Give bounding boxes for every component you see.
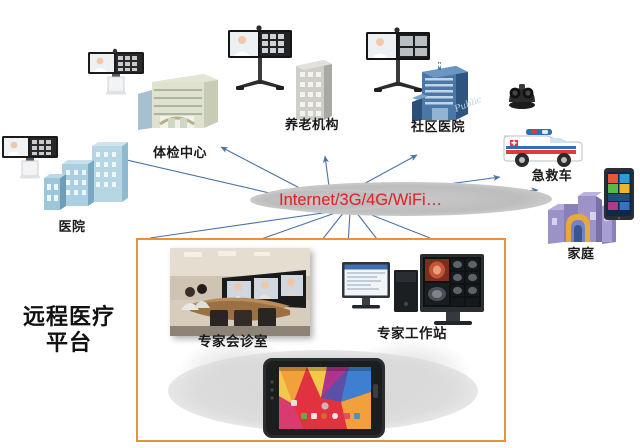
video-conference-stand-icon [228,30,296,92]
ambulance-icon [498,122,584,170]
node-label-hospital: 医院 [36,216,108,235]
node-label-exam-center: 体检中心 [132,142,228,161]
node-label-elderly-care: 养老机构 [264,114,360,133]
rugged-tablet-icon[interactable] [263,358,385,438]
page-title-line2: 平台 [8,331,130,357]
exam-center-building-icon [138,68,226,134]
video-conference-stand-icon-2 [366,32,434,94]
node-label-home: 家庭 [548,243,614,262]
tablet-device-icon[interactable] [604,168,634,220]
video-conference-cart-icon [2,136,64,180]
ptz-camera-icon [504,80,540,110]
page-title: 远程医疗 平台 [8,305,130,357]
video-conference-cart-icon-2 [88,52,150,96]
page-title-line1: 远程医疗 [8,305,130,331]
telemedicine-architecture-diagram: Internet/3G/4G/WiFi… [0,0,640,448]
node-label-ambulance: 急救车 [512,165,592,184]
elderly-care-building-icon [292,58,336,120]
consultation-room-photo [170,248,310,336]
platform-label-consultation-room: 专家会诊室 [172,330,294,350]
platform-label-workstation: 专家工作站 [352,322,472,342]
node-label-community-hospital: 社区医院 [390,116,486,135]
network-label: Internet/3G/4G/WiFi… [279,191,442,210]
